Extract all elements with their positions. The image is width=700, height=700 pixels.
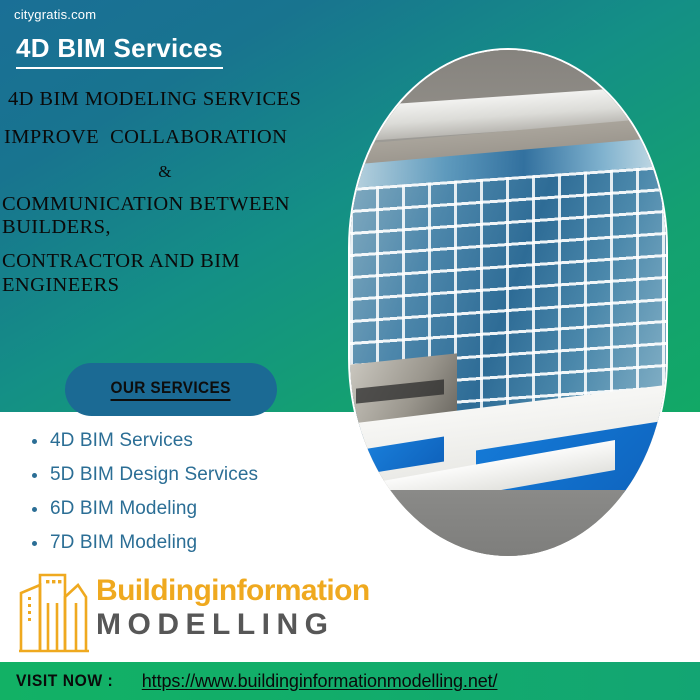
office-building-photo — [350, 50, 666, 556]
visit-now-label: VISIT NOW : — [16, 671, 113, 691]
brand-wordmark: Buildinginformation MODELLING — [96, 576, 370, 642]
brand-word-top: Buildinginformation — [96, 576, 370, 606]
page-title: 4D BIM Services — [16, 33, 223, 69]
list-item[interactable]: 6D BIM Modeling — [22, 492, 342, 526]
brand-logo: Buildinginformation MODELLING — [18, 563, 370, 655]
list-item[interactable]: 5D BIM Design Services — [22, 458, 342, 492]
list-item[interactable]: 7D BIM Modeling — [22, 526, 342, 560]
services-list: 4D BIM Services 5D BIM Design Services 6… — [22, 424, 342, 560]
headline-line-1: 4D BIM MODELING SERVICES — [0, 86, 340, 113]
list-item[interactable]: 4D BIM Services — [22, 424, 342, 458]
headline-line-4: COMMUNICATION BETWEEN BUILDERS, — [0, 193, 340, 241]
headline-block: 4D BIM MODELING SERVICES IMPROVE COLLABO… — [0, 86, 340, 298]
site-watermark: citygratis.com — [14, 7, 96, 22]
our-services-button[interactable]: OUR SERVICES — [65, 363, 277, 416]
website-url-link[interactable]: https://www.buildinginformationmodelling… — [142, 671, 498, 692]
headline-ampersand: & — [0, 161, 330, 184]
photo-ground — [350, 490, 666, 556]
headline-line-2: IMPROVE COLLABORATION — [0, 124, 340, 151]
hero-building-image — [348, 48, 668, 558]
footer-bar: VISIT NOW : https://www.buildinginformat… — [0, 662, 700, 700]
brand-word-bottom: MODELLING — [96, 608, 370, 642]
headline-line-5: CONTRACTOR AND BIM ENGINEERS — [0, 250, 340, 298]
poster-canvas: citygratis.com 4D BIM Services 4D BIM MO… — [0, 0, 700, 700]
building-outline-icon — [18, 563, 90, 655]
our-services-button-label: OUR SERVICES — [111, 379, 231, 401]
